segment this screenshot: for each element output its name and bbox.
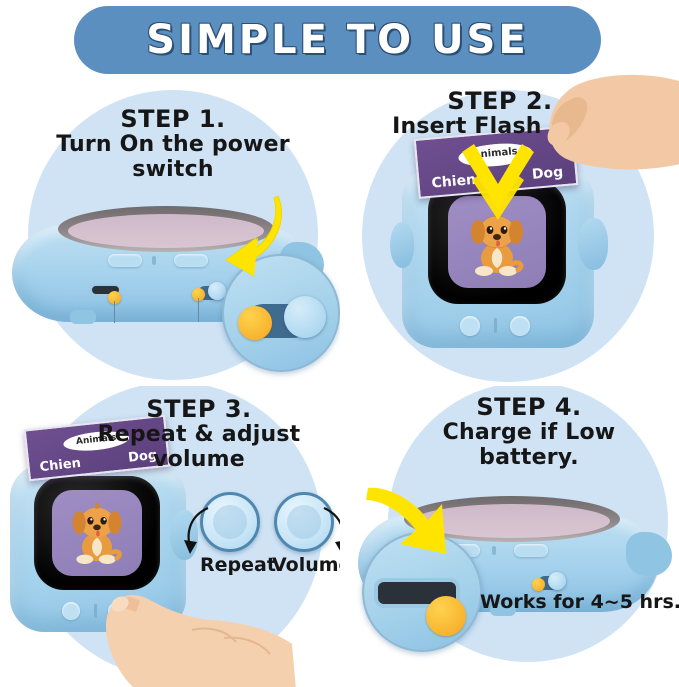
page-title: SIMPLE TO USE (74, 6, 601, 74)
repeat-button-callout-inner (213, 505, 247, 539)
step-4-body-line-2: battery. (388, 446, 670, 471)
device-side-button-right[interactable] (514, 544, 548, 557)
step-4-body-line-1: Charge if Low (388, 421, 670, 446)
device-ear-fin (626, 532, 672, 576)
volume-button-label: Volume (272, 554, 340, 576)
repeat-button-label: Repeat (200, 554, 276, 576)
step-1-arrow-icon (196, 194, 286, 280)
step-1-body-line-2: switch (28, 158, 318, 183)
step-1-text: STEP 1. Turn On the power switch (28, 106, 318, 182)
dog-illustration (66, 500, 128, 566)
step-3-panel: STEP 3. Repeat & adjust volume Animals C… (0, 386, 340, 687)
magnified-switch-knob (284, 296, 326, 338)
step-4-panel: STEP 4. Charge if Low battery. Works for… (340, 386, 679, 687)
repeat-button[interactable] (460, 316, 480, 336)
device-ear-right (578, 218, 608, 270)
volume-button-callout-inner (287, 505, 321, 539)
volume-callout-arrow-icon (318, 506, 340, 560)
card-slot (494, 318, 497, 333)
step-3-heading: STEP 3. (58, 396, 340, 423)
step-3-body-line-1: Repeat & adjust (58, 423, 340, 448)
usb-port-leader-line (114, 301, 115, 323)
magnified-marker-dot (426, 596, 466, 636)
step-1-panel: STEP 1. Turn On the power switch (0, 86, 340, 386)
hand-pressing-button (96, 578, 306, 687)
battery-life-caption: Works for 4~5 hrs. (480, 591, 679, 613)
step-4-text: STEP 4. Charge if Low battery. (388, 394, 670, 470)
volume-button[interactable] (510, 316, 530, 336)
step-2-panel: STEP 2. Insert Flash Card Animals Chien … (340, 70, 679, 386)
device-microphone (492, 546, 496, 555)
power-switch-knob[interactable] (548, 572, 566, 590)
step-3-body-line-2: volume (58, 448, 340, 473)
device-foot (70, 310, 96, 324)
magnified-marker-dot (238, 306, 272, 340)
power-switch-marker-dot (532, 578, 545, 591)
device-microphone (152, 256, 156, 265)
device-screen (52, 490, 142, 576)
repeat-callout-arrow-icon (182, 506, 216, 560)
step-2-arrow-icon (464, 140, 534, 226)
device-ear-left (390, 222, 414, 268)
device-side-button-left[interactable] (108, 254, 142, 267)
hand-holding-card (530, 70, 679, 186)
step-4-heading: STEP 4. (388, 394, 670, 421)
step-1-heading: STEP 1. (28, 106, 318, 133)
power-switch-leader-line (198, 298, 199, 322)
step-3-text: STEP 3. Repeat & adjust volume (58, 396, 340, 472)
repeat-button[interactable] (62, 602, 80, 620)
step-4-arrow-icon (364, 482, 460, 576)
step-1-body-line-1: Turn On the power (28, 133, 318, 158)
